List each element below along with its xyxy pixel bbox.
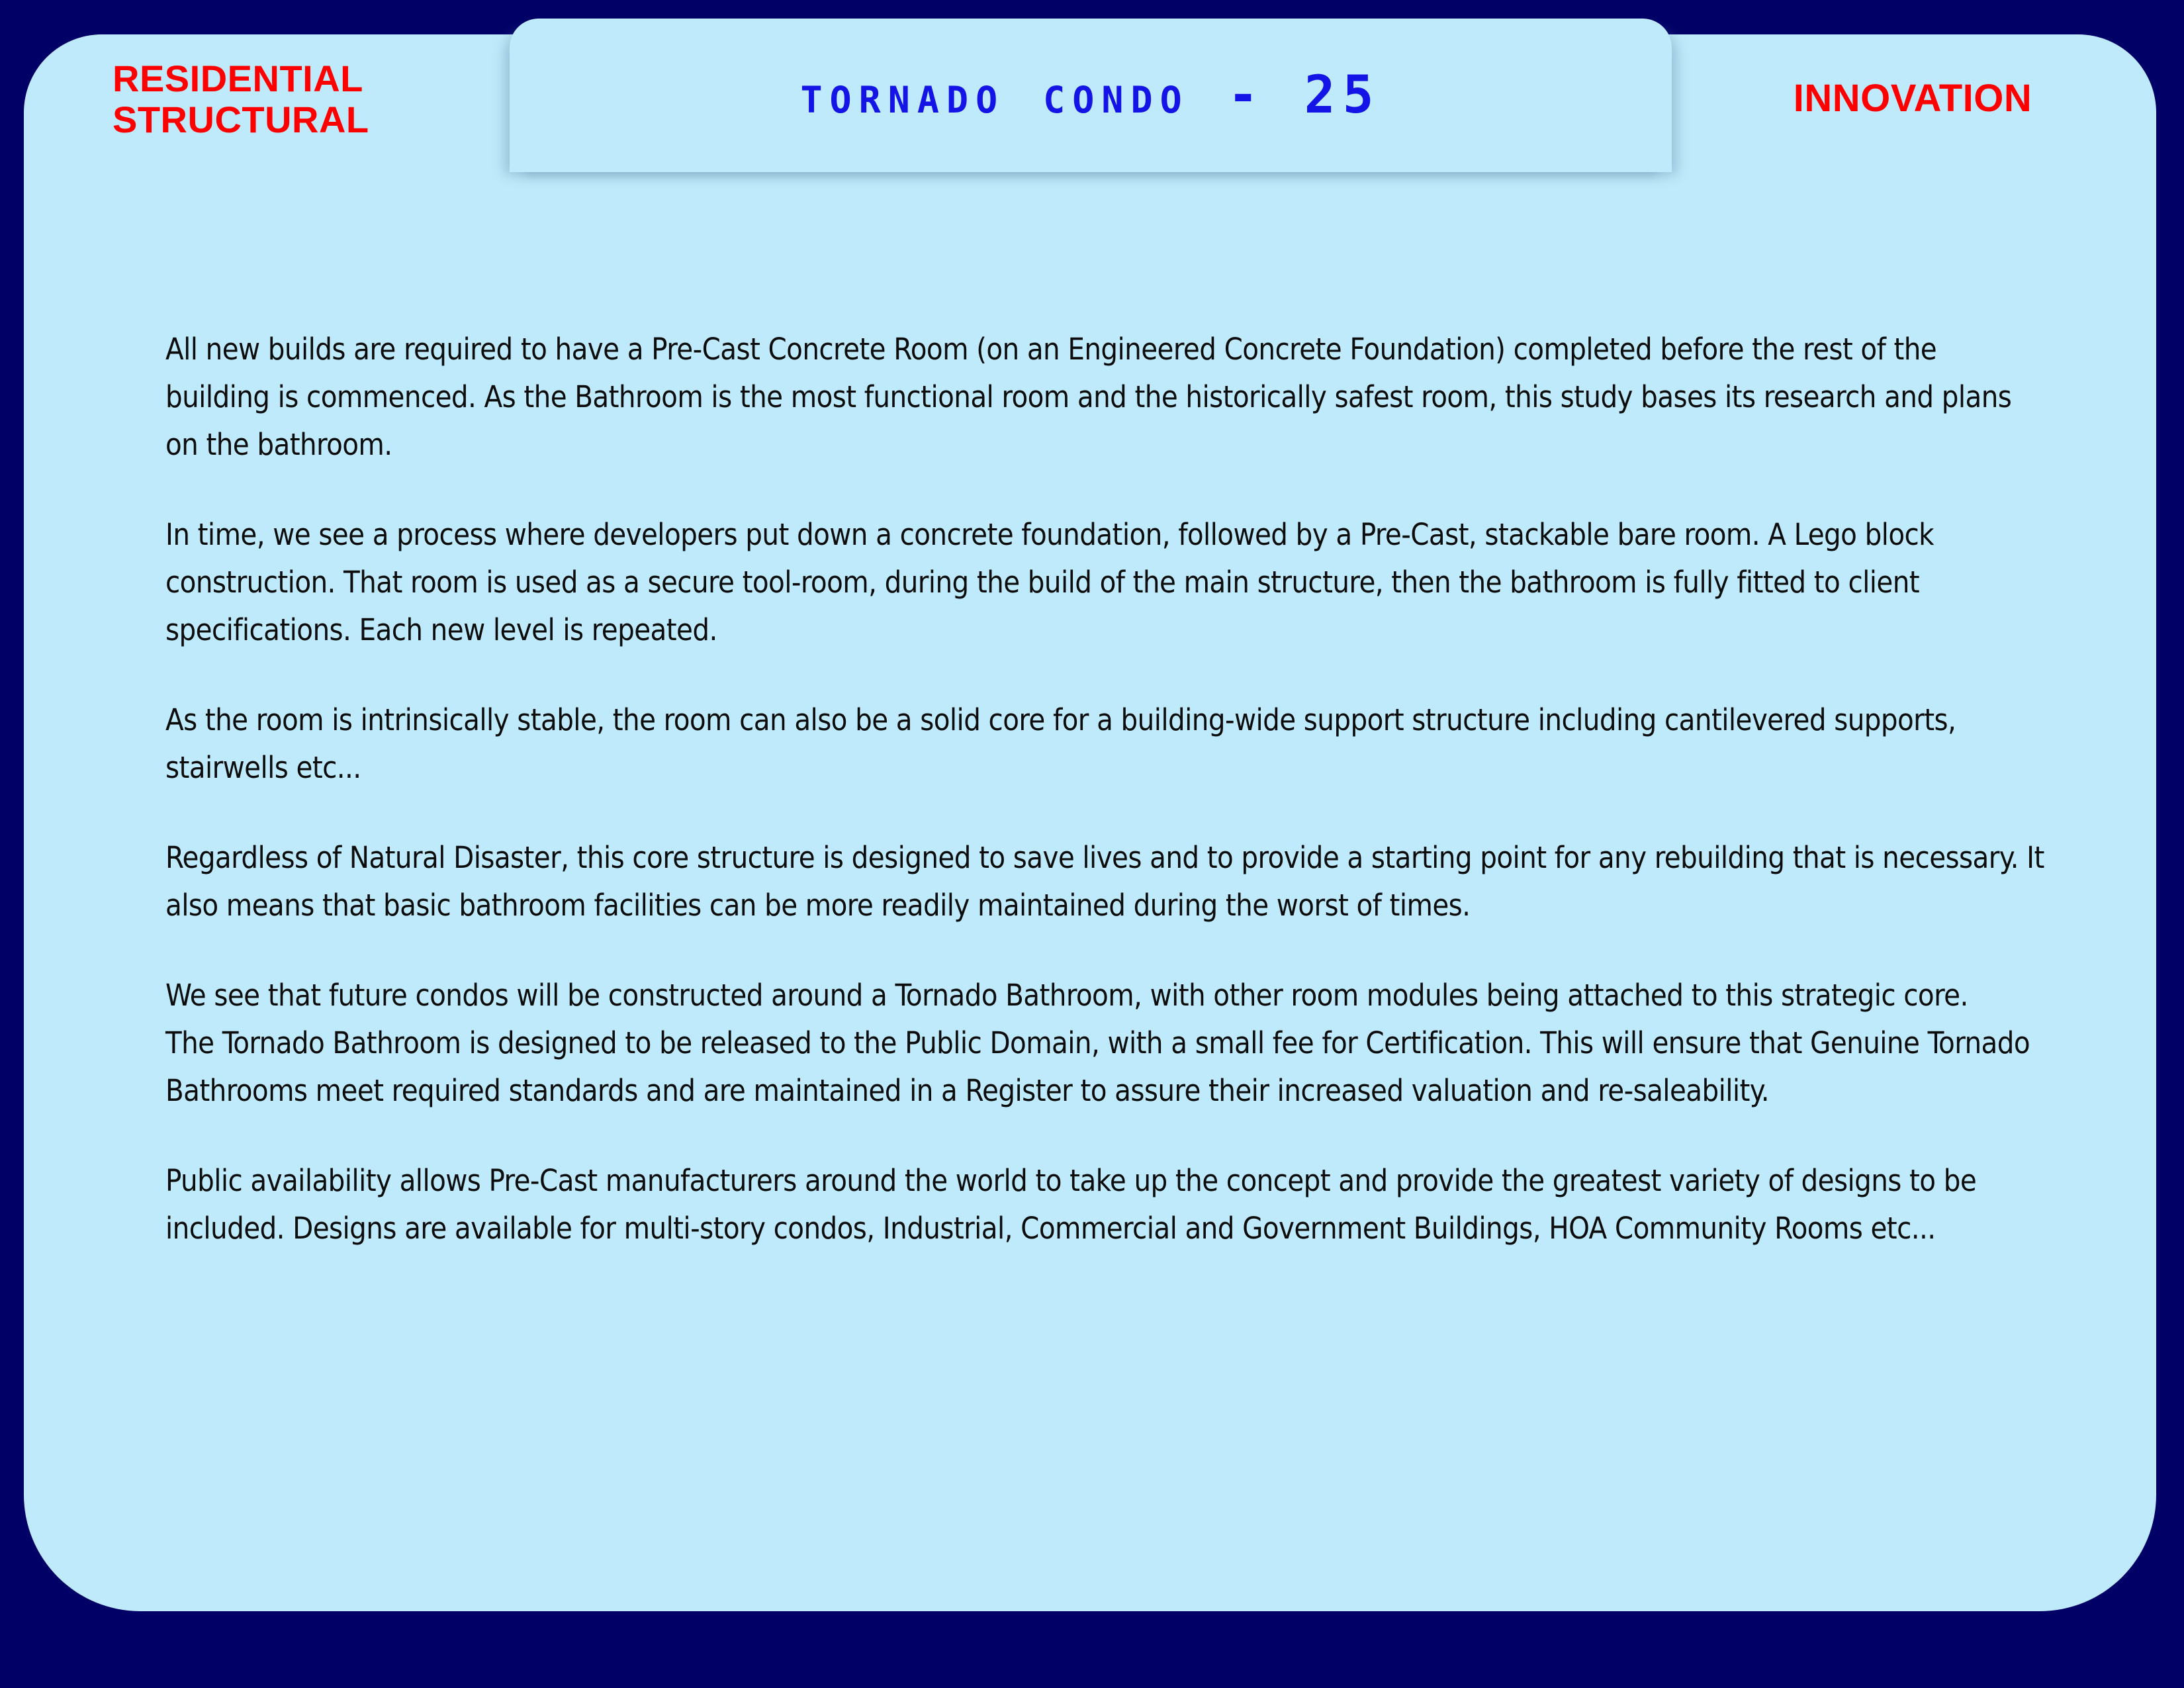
paragraph-2: In time, we see a process where develope… xyxy=(165,511,2045,654)
paragraph-1: All new builds are required to have a Pr… xyxy=(165,326,2045,469)
paragraph-6: The Tornado Bathroom is designed to be r… xyxy=(165,1019,2045,1115)
paragraph-5: We see that future condos will be constr… xyxy=(165,972,2045,1019)
paragraph-3: As the room is intrinsically stable, the… xyxy=(165,696,2045,792)
page-title: Tornado Condo - 25 xyxy=(510,64,1672,127)
slide-root: RESIDENTIAL STRUCTURAL Tornado Condo - 2… xyxy=(0,0,2184,1688)
category-label-line-2: STRUCTURAL xyxy=(113,99,457,140)
category-label-residential-structural: RESIDENTIAL STRUCTURAL xyxy=(113,58,457,140)
paragraph-4: Regardless of Natural Disaster, this cor… xyxy=(165,834,2045,929)
category-label-innovation: INNOVATION xyxy=(1694,78,2131,119)
body-copy: All new builds are required to have a Pr… xyxy=(165,326,2045,1252)
paragraph-7: Public availability allows Pre-Cast manu… xyxy=(165,1157,2045,1252)
category-label-line-1: RESIDENTIAL xyxy=(113,58,457,99)
